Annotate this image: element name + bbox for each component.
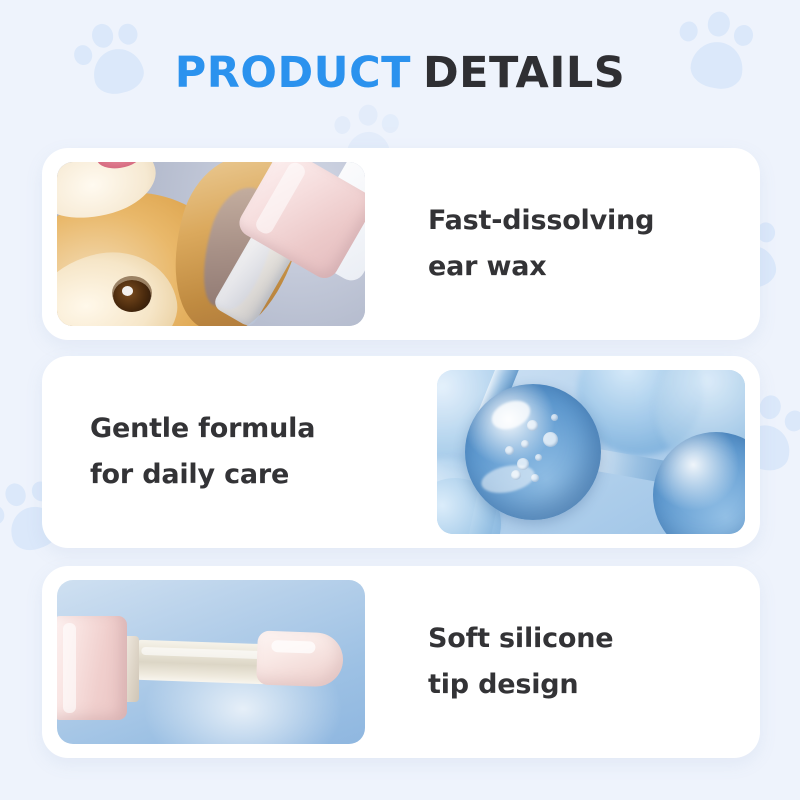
page-header: PRODUCTDETAILS — [0, 48, 800, 98]
feature-text-line: ear wax — [428, 244, 744, 290]
feature-card-text: Gentle formula for daily care — [42, 406, 422, 498]
feature-card-text: Soft silicone tip design — [380, 616, 760, 708]
page-title-product: PRODUCT — [175, 48, 411, 98]
feature-text-line: Fast-dissolving — [428, 198, 744, 244]
blue-molecule-photo — [437, 370, 745, 534]
corgi-ear-dropper-photo — [57, 162, 365, 326]
feature-text-line: Soft silicone — [428, 616, 744, 662]
page-title-details: DETAILS — [423, 48, 625, 98]
feature-text-line: Gentle formula — [90, 406, 406, 452]
page-title: PRODUCTDETAILS — [0, 48, 800, 98]
silicone-tip-dropper-photo — [57, 580, 365, 744]
feature-card-gentle-formula[interactable]: Gentle formula for daily care — [42, 356, 760, 548]
feature-card-text: Fast-dissolving ear wax — [380, 198, 760, 290]
feature-card-soft-silicone-tip[interactable]: Soft silicone tip design — [42, 566, 760, 758]
feature-text-line: for daily care — [90, 452, 406, 498]
feature-text-line: tip design — [428, 662, 744, 708]
feature-card-fast-dissolving[interactable]: Fast-dissolving ear wax — [42, 148, 760, 340]
